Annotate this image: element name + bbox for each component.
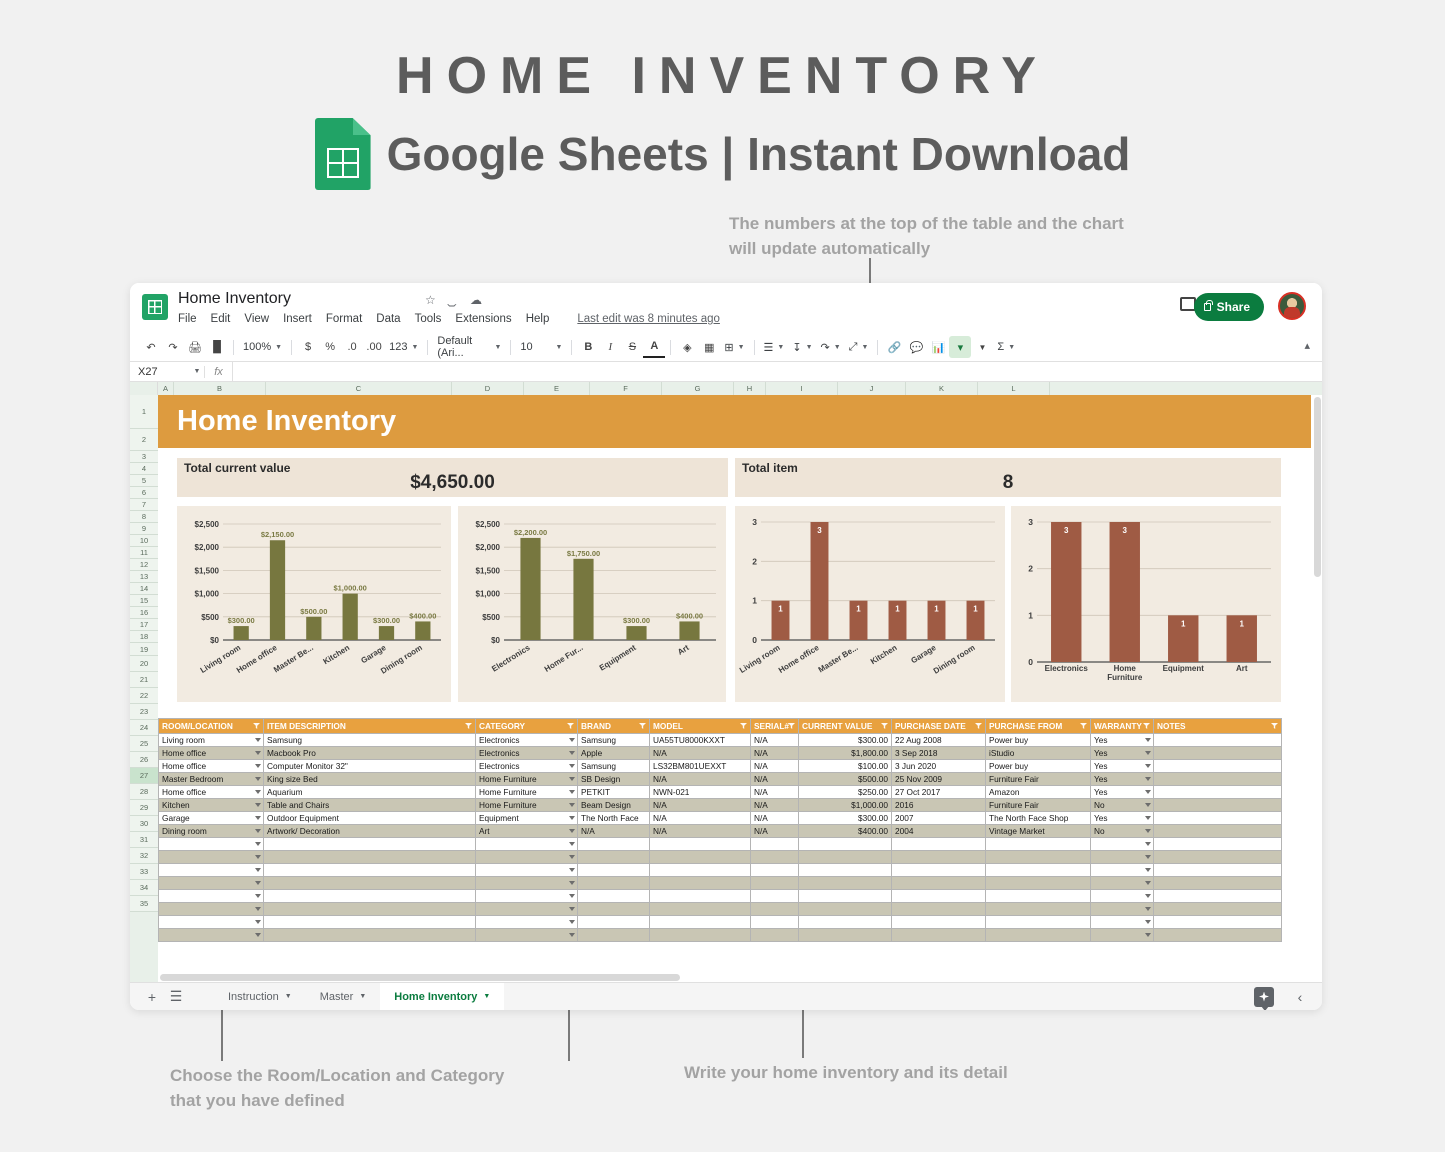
dropdown-caret-icon[interactable] [1145,829,1151,833]
menu-tools[interactable]: Tools [415,313,442,325]
table-cell[interactable] [799,851,892,864]
row-header-32[interactable]: 32 [130,848,158,864]
table-header-brand[interactable]: BRAND [578,719,650,734]
row-header-21[interactable]: 21 [130,672,158,688]
table-cell[interactable] [264,903,476,916]
table-cell[interactable] [799,916,892,929]
move-to-folder-icon[interactable]: ⏡ [447,293,457,308]
table-row-empty[interactable] [159,890,1282,903]
functions-sigma-icon[interactable]: Σ▼ [993,336,1019,358]
table-cell[interactable]: Amazon [986,786,1091,799]
table-cell[interactable]: N/A [751,734,799,747]
table-cell[interactable]: N/A [578,825,650,838]
table-cell[interactable] [799,903,892,916]
table-cell[interactable] [1154,812,1282,825]
text-rotation-icon[interactable]: ⤢▼ [845,336,873,358]
row-header-29[interactable]: 29 [130,800,158,816]
table-cell[interactable] [264,890,476,903]
table-row[interactable]: Living roomSamsungElectronicsSamsungUA55… [159,734,1282,747]
font-selector[interactable]: Default (Ari...▼ [433,336,505,358]
table-row-empty[interactable] [159,838,1282,851]
table-cell[interactable] [264,864,476,877]
table-cell[interactable] [751,877,799,890]
menu-help[interactable]: Help [526,313,550,325]
table-cell[interactable]: Yes [1091,760,1154,773]
filter-dropdown-caret[interactable]: ▼ [971,336,993,358]
dropdown-caret-icon[interactable] [569,803,575,807]
dropdown-caret-icon[interactable] [569,855,575,859]
table-row-empty[interactable] [159,903,1282,916]
table-cell[interactable] [264,916,476,929]
table-cell[interactable]: N/A [751,825,799,838]
table-cell[interactable] [751,838,799,851]
table-cell[interactable] [892,838,986,851]
row-header-27[interactable]: 27 [130,768,158,784]
table-cell[interactable] [650,851,751,864]
table-cell[interactable]: Apple [578,747,650,760]
dropdown-caret-icon[interactable] [1145,816,1151,820]
text-color-icon[interactable]: A [643,336,665,358]
table-cell[interactable]: Samsung [578,734,650,747]
table-cell[interactable] [476,864,578,877]
table-cell[interactable] [578,903,650,916]
dropdown-caret-icon[interactable] [1145,907,1151,911]
table-cell[interactable] [1154,734,1282,747]
table-cell[interactable] [578,890,650,903]
table-cell[interactable]: $300.00 [799,734,892,747]
table-cell[interactable] [159,916,264,929]
table-cell[interactable]: N/A [751,786,799,799]
dropdown-caret-icon[interactable] [1145,751,1151,755]
chevron-down-icon[interactable]: ▼ [359,993,366,1000]
cloud-saved-icon[interactable]: ☁ [470,293,482,307]
table-cell[interactable] [159,851,264,864]
table-header-category[interactable]: CATEGORY [476,719,578,734]
table-cell[interactable] [986,877,1091,890]
table-cell[interactable]: 2016 [892,799,986,812]
dropdown-caret-icon[interactable] [1145,868,1151,872]
table-cell[interactable]: UA55TU8000KXXT [650,734,751,747]
menu-extensions[interactable]: Extensions [455,313,511,325]
row-header-9[interactable]: 9 [130,523,158,535]
table-cell[interactable]: Aquarium [264,786,476,799]
table-cell[interactable] [986,851,1091,864]
text-wrap-icon[interactable]: ↷▼ [817,336,845,358]
table-cell[interactable] [799,929,892,942]
insert-comment-icon[interactable]: 💬 [905,336,927,358]
table-cell[interactable] [578,877,650,890]
filter-icon[interactable]: ▾ [949,336,971,358]
table-cell[interactable]: NWN-021 [650,786,751,799]
table-cell[interactable]: N/A [650,799,751,812]
table-cell[interactable]: Equipment [476,812,578,825]
table-cell[interactable] [799,877,892,890]
table-cell[interactable] [799,864,892,877]
table-cell[interactable] [1154,825,1282,838]
table-header-item-description[interactable]: ITEM DESCRIPTION [264,719,476,734]
table-cell[interactable]: Furniture Fair [986,773,1091,786]
table-row[interactable]: Home officeMacbook ProElectronicsAppleN/… [159,747,1282,760]
table-cell[interactable]: Yes [1091,786,1154,799]
table-cell[interactable]: N/A [751,773,799,786]
star-icon[interactable]: ☆ [425,293,436,307]
chart-value-by-category[interactable]: $0$500$1,000$1,500$2,000$2,500$2,200.00E… [458,506,726,702]
table-cell[interactable]: Kitchen [159,799,264,812]
dropdown-caret-icon[interactable] [255,855,261,859]
column-header-F[interactable]: F [590,382,662,395]
table-cell[interactable] [650,890,751,903]
table-cell[interactable] [1091,929,1154,942]
table-row-empty[interactable] [159,864,1282,877]
dropdown-caret-icon[interactable] [255,738,261,742]
row-header-24[interactable]: 24 [130,720,158,736]
table-cell[interactable]: No [1091,799,1154,812]
filter-icon[interactable] [1080,723,1087,729]
table-row-empty[interactable] [159,851,1282,864]
row-header-2[interactable]: 2 [130,429,158,451]
table-cell[interactable] [892,851,986,864]
row-header-1[interactable]: 1 [130,395,158,429]
table-cell[interactable] [1091,838,1154,851]
formula-input[interactable] [232,362,1322,381]
row-header-19[interactable]: 19 [130,643,158,656]
table-cell[interactable]: Yes [1091,812,1154,825]
filter-icon[interactable] [1271,723,1278,729]
column-header-E[interactable]: E [524,382,590,395]
more-formats-selector[interactable]: 123▼ [385,336,422,358]
table-cell[interactable] [650,877,751,890]
table-cell[interactable]: 25 Nov 2009 [892,773,986,786]
bold-icon[interactable]: B [577,336,599,358]
table-cell[interactable]: Yes [1091,747,1154,760]
dropdown-caret-icon[interactable] [569,842,575,846]
table-cell[interactable]: King size Bed [264,773,476,786]
chevron-down-icon[interactable]: ▼ [285,993,292,1000]
table-row[interactable]: Home officeComputer Monitor 32"Electroni… [159,760,1282,773]
dropdown-caret-icon[interactable] [569,764,575,768]
table-cell[interactable] [650,903,751,916]
dropdown-caret-icon[interactable] [255,829,261,833]
table-cell[interactable] [1154,929,1282,942]
row-header-13[interactable]: 13 [130,571,158,583]
row-header-11[interactable]: 11 [130,547,158,559]
decrease-decimal-icon[interactable]: .0 [341,336,363,358]
table-cell[interactable]: Samsung [578,760,650,773]
table-cell[interactable] [159,890,264,903]
table-cell[interactable] [264,838,476,851]
table-cell[interactable]: Home Furniture [476,799,578,812]
dropdown-caret-icon[interactable] [1145,842,1151,846]
chart-count-by-category[interactable]: 01233Electronics3HomeFurniture1Equipment… [1011,506,1281,702]
table-cell[interactable]: The North Face Shop [986,812,1091,825]
table-cell[interactable] [751,903,799,916]
filter-icon[interactable] [740,723,747,729]
row-header-12[interactable]: 12 [130,559,158,571]
table-cell[interactable] [892,890,986,903]
table-cell[interactable] [1154,890,1282,903]
table-cell[interactable]: Master Bedroom [159,773,264,786]
column-header-B[interactable]: B [174,382,266,395]
table-cell[interactable] [986,916,1091,929]
table-header-serial[interactable]: SERIAL# [751,719,799,734]
table-cell[interactable]: 2004 [892,825,986,838]
filter-icon[interactable] [788,723,795,729]
dropdown-caret-icon[interactable] [1145,803,1151,807]
table-cell[interactable]: iStudio [986,747,1091,760]
table-cell[interactable]: $100.00 [799,760,892,773]
table-cell[interactable]: No [1091,825,1154,838]
dropdown-caret-icon[interactable] [569,816,575,820]
table-cell[interactable] [476,838,578,851]
table-cell[interactable] [1091,903,1154,916]
dropdown-caret-icon[interactable] [255,868,261,872]
filter-icon[interactable] [639,723,646,729]
dropdown-caret-icon[interactable] [255,777,261,781]
dropdown-caret-icon[interactable] [255,764,261,768]
table-cell[interactable] [1154,799,1282,812]
table-row[interactable]: Home officeAquariumHome FurniturePETKITN… [159,786,1282,799]
table-cell[interactable] [650,916,751,929]
table-cell[interactable] [476,890,578,903]
share-button[interactable]: Share [1194,293,1264,321]
row-header-22[interactable]: 22 [130,688,158,704]
table-cell[interactable] [578,851,650,864]
dropdown-caret-icon[interactable] [569,933,575,937]
redo-icon[interactable]: ↷ [162,336,184,358]
table-cell[interactable]: Power buy [986,734,1091,747]
table-cell[interactable]: Yes [1091,773,1154,786]
chevron-up-icon[interactable]: ▴ [1304,339,1310,352]
row-header-8[interactable]: 8 [130,511,158,523]
table-cell[interactable] [1154,877,1282,890]
table-cell[interactable] [476,877,578,890]
table-cell[interactable]: LS32BM801UEXXT [650,760,751,773]
row-header-26[interactable]: 26 [130,752,158,768]
table-header-model[interactable]: MODEL [650,719,751,734]
table-cell[interactable]: Art [476,825,578,838]
table-cell[interactable]: Dining room [159,825,264,838]
table-cell[interactable]: Garage [159,812,264,825]
dropdown-caret-icon[interactable] [1145,881,1151,885]
strikethrough-icon[interactable]: S [621,336,643,358]
table-cell[interactable]: Power buy [986,760,1091,773]
row-header-34[interactable]: 34 [130,880,158,896]
dropdown-caret-icon[interactable] [255,816,261,820]
filter-icon[interactable] [253,723,260,729]
row-header-17[interactable]: 17 [130,619,158,631]
table-cell[interactable] [264,929,476,942]
table-row[interactable]: KitchenTable and ChairsHome FurnitureBea… [159,799,1282,812]
table-cell[interactable] [1154,916,1282,929]
dropdown-caret-icon[interactable] [1145,920,1151,924]
table-cell[interactable]: $300.00 [799,812,892,825]
table-cell[interactable] [751,851,799,864]
chart-count-by-room[interactable]: 01231Living room3Home office1Master Be..… [735,506,1005,702]
percent-icon[interactable]: % [319,336,341,358]
table-cell[interactable]: SB Design [578,773,650,786]
row-header-31[interactable]: 31 [130,832,158,848]
table-cell[interactable] [892,929,986,942]
table-cell[interactable] [799,890,892,903]
dropdown-caret-icon[interactable] [255,751,261,755]
table-cell[interactable]: Vintage Market [986,825,1091,838]
insert-link-icon[interactable]: 🔗 [883,336,905,358]
user-avatar[interactable] [1278,292,1306,320]
vertical-scrollbar[interactable] [1313,395,1322,982]
table-cell[interactable]: Beam Design [578,799,650,812]
table-cell[interactable] [751,890,799,903]
table-cell[interactable]: N/A [650,812,751,825]
row-header-10[interactable]: 10 [130,535,158,547]
table-cell[interactable] [159,877,264,890]
row-header-5[interactable]: 5 [130,475,158,487]
table-cell[interactable] [476,916,578,929]
table-cell[interactable]: N/A [650,773,751,786]
column-header-K[interactable]: K [906,382,978,395]
table-cell[interactable] [892,903,986,916]
menu-file[interactable]: File [178,313,197,325]
table-cell[interactable] [1154,786,1282,799]
dropdown-caret-icon[interactable] [255,842,261,846]
print-icon[interactable]: 🖨 [184,336,206,358]
column-header-J[interactable]: J [838,382,906,395]
table-cell[interactable]: N/A [751,747,799,760]
dropdown-caret-icon[interactable] [569,738,575,742]
table-cell[interactable]: Home office [159,786,264,799]
row-header-7[interactable]: 7 [130,499,158,511]
column-header-A[interactable]: A [158,382,174,395]
table-cell[interactable] [1091,851,1154,864]
table-cell[interactable] [578,838,650,851]
table-cell[interactable] [986,903,1091,916]
table-cell[interactable]: $400.00 [799,825,892,838]
dropdown-caret-icon[interactable] [569,907,575,911]
table-cell[interactable] [264,877,476,890]
table-row[interactable]: Dining roomArtwork/ DecorationArtN/AN/AN… [159,825,1282,838]
dropdown-caret-icon[interactable] [1145,738,1151,742]
paint-format-icon[interactable]: █ [206,336,228,358]
table-cell[interactable]: $1,000.00 [799,799,892,812]
table-cell[interactable] [476,851,578,864]
table-cell[interactable] [751,916,799,929]
table-cell[interactable] [264,851,476,864]
row-header-16[interactable]: 16 [130,607,158,619]
row-header-14[interactable]: 14 [130,583,158,595]
horizontal-align-icon[interactable]: ☰▼ [760,336,789,358]
table-cell[interactable]: Home Furniture [476,773,578,786]
table-cell[interactable]: Living room [159,734,264,747]
table-cell[interactable]: $500.00 [799,773,892,786]
column-header-D[interactable]: D [452,382,524,395]
table-cell[interactable] [986,890,1091,903]
chevron-down-icon[interactable]: ▼ [483,993,490,1000]
table-header-purchase-date[interactable]: PURCHASE DATE [892,719,986,734]
table-cell[interactable] [892,877,986,890]
table-cell[interactable]: Yes [1091,734,1154,747]
last-edit-status[interactable]: Last edit was 8 minutes ago [577,313,720,325]
table-cell[interactable]: N/A [650,825,751,838]
table-header-warranty[interactable]: WARRANTY [1091,719,1154,734]
table-cell[interactable]: Electronics [476,747,578,760]
table-row-empty[interactable] [159,929,1282,942]
table-cell[interactable] [578,929,650,942]
table-cell[interactable] [986,864,1091,877]
table-cell[interactable] [1091,890,1154,903]
menu-data[interactable]: Data [376,313,400,325]
document-title[interactable]: Home Inventory [178,290,291,308]
table-row-empty[interactable] [159,877,1282,890]
currency-icon[interactable]: $ [297,336,319,358]
table-cell[interactable]: Electronics [476,760,578,773]
increase-decimal-icon[interactable]: .00 [363,336,385,358]
table-row-empty[interactable] [159,916,1282,929]
table-cell[interactable]: 2007 [892,812,986,825]
table-cell[interactable]: Macbook Pro [264,747,476,760]
dropdown-caret-icon[interactable] [1145,855,1151,859]
column-header-I[interactable]: I [766,382,838,395]
table-cell[interactable] [1154,851,1282,864]
table-cell[interactable] [650,864,751,877]
table-header-room-location[interactable]: ROOM/LOCATION [159,719,264,734]
table-cell[interactable] [751,929,799,942]
dropdown-caret-icon[interactable] [1145,894,1151,898]
all-sheets-icon[interactable]: ☰ [164,985,188,1009]
menu-view[interactable]: View [244,313,269,325]
table-cell[interactable]: 27 Oct 2017 [892,786,986,799]
table-row[interactable]: Master BedroomKing size BedHome Furnitur… [159,773,1282,786]
dropdown-caret-icon[interactable] [1145,777,1151,781]
dropdown-caret-icon[interactable] [569,881,575,885]
borders-icon[interactable]: ▦ [698,336,720,358]
undo-icon[interactable]: ↶ [140,336,162,358]
table-cell[interactable]: N/A [650,747,751,760]
row-header-15[interactable]: 15 [130,595,158,607]
table-cell[interactable]: N/A [751,799,799,812]
table-cell[interactable]: Home Furniture [476,786,578,799]
sheet-tab-home-inventory[interactable]: Home Inventory▼ [380,983,504,1011]
table-cell[interactable]: 3 Jun 2020 [892,760,986,773]
sheet-tab-master[interactable]: Master▼ [306,983,381,1011]
table-cell[interactable] [578,916,650,929]
row-header-6[interactable]: 6 [130,487,158,499]
name-box-caret-icon[interactable]: ▼ [190,368,204,375]
select-all-corner[interactable] [130,382,158,395]
table-cell[interactable]: Home office [159,760,264,773]
column-header-G[interactable]: G [662,382,734,395]
insert-chart-icon[interactable]: 📊 [927,336,949,358]
table-cell[interactable]: Electronics [476,734,578,747]
table-cell[interactable] [476,903,578,916]
italic-icon[interactable]: I [599,336,621,358]
dropdown-caret-icon[interactable] [569,777,575,781]
dropdown-caret-icon[interactable] [569,790,575,794]
table-row[interactable]: GarageOutdoor EquipmentEquipmentThe Nort… [159,812,1282,825]
dropdown-caret-icon[interactable] [1145,933,1151,937]
explore-icon[interactable] [1254,987,1274,1007]
dropdown-caret-icon[interactable] [569,829,575,833]
column-header-H[interactable]: H [734,382,766,395]
table-cell[interactable]: N/A [751,760,799,773]
horizontal-scrollbar[interactable] [158,973,1308,982]
table-cell[interactable]: Computer Monitor 32" [264,760,476,773]
menu-edit[interactable]: Edit [211,313,231,325]
table-cell[interactable] [1091,864,1154,877]
table-cell[interactable] [1154,838,1282,851]
table-cell[interactable] [1091,916,1154,929]
table-cell[interactable]: 3 Sep 2018 [892,747,986,760]
table-cell[interactable]: Furniture Fair [986,799,1091,812]
row-header-33[interactable]: 33 [130,864,158,880]
